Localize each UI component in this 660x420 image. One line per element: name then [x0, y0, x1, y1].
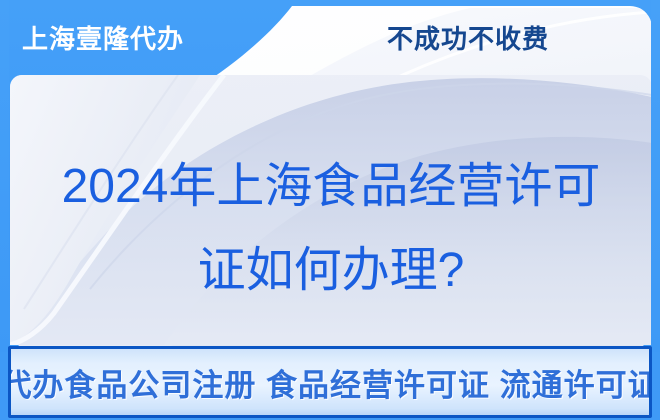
banner-header: 上海壹隆代办 不成功不收费 [0, 0, 660, 75]
headline-line-2: 证如何办理? [10, 229, 652, 313]
headline-line-1: 2024年上海食品经营许可 [10, 145, 652, 229]
promo-banner: 上海壹隆代办 不成功不收费 2024年上海食品经营许可 证如何办理? 代办食品公… [0, 0, 660, 420]
brand-name: 上海壹隆代办 [22, 19, 184, 56]
headline: 2024年上海食品经营许可 证如何办理? [10, 145, 652, 313]
header-tagline: 不成功不收费 [387, 19, 549, 56]
keyword-bar-text: 代办食品公司注册 食品经营许可证 流通许可证 [8, 360, 652, 405]
keyword-bar: 代办食品公司注册 食品经营许可证 流通许可证 [8, 346, 652, 418]
